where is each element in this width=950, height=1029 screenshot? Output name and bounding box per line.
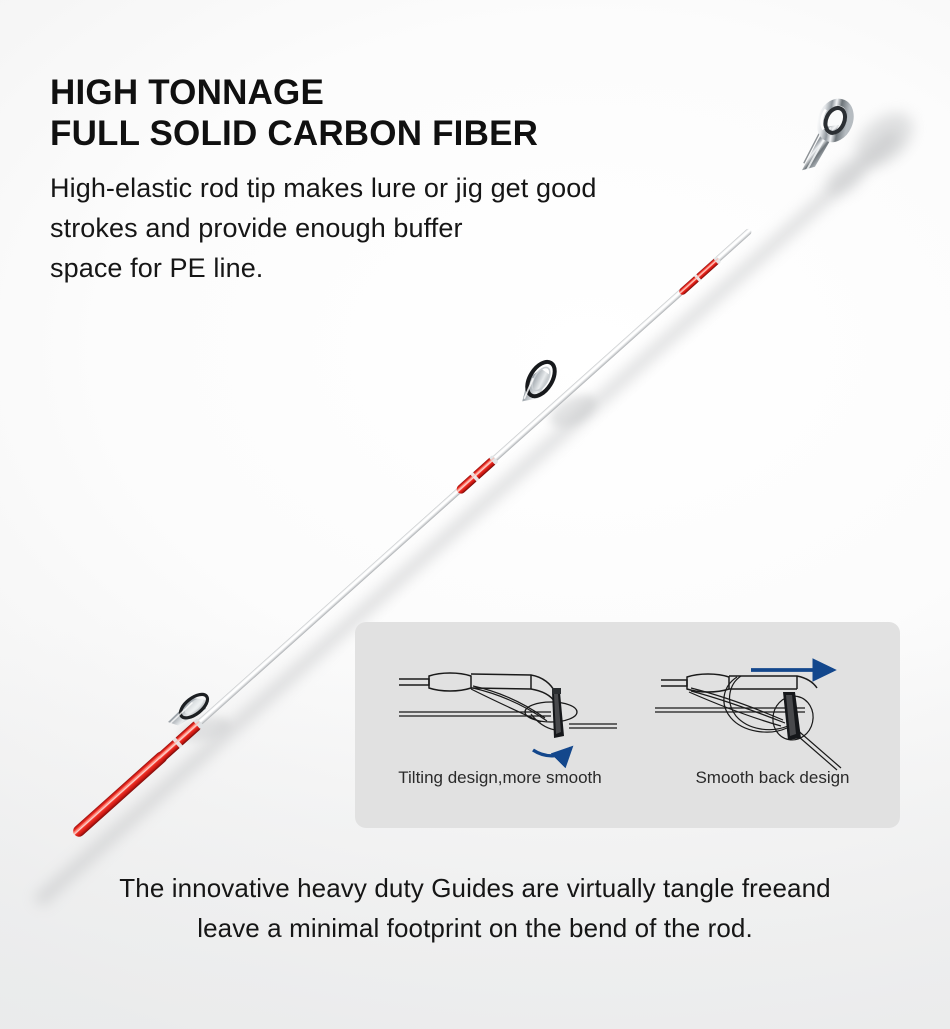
guide-diagrams [355, 622, 900, 772]
smooth-back-design-caption: Smooth back design [645, 768, 900, 788]
page-title: HIGH TONNAGE FULL SOLID CARBON FIBER [50, 72, 538, 154]
footer-description: The innovative heavy duty Guides are vir… [0, 868, 950, 948]
tilting-design-caption: Tilting design,more smooth [355, 768, 645, 788]
subheading-description: High-elastic rod tip makes lure or jig g… [50, 168, 596, 288]
rotation-arrow-icon [533, 748, 571, 756]
smooth-back-guide-figure [655, 670, 841, 770]
guide-design-panel: Tilting design,more smooth Smooth back d… [355, 622, 900, 828]
tilting-guide-figure [399, 673, 617, 756]
